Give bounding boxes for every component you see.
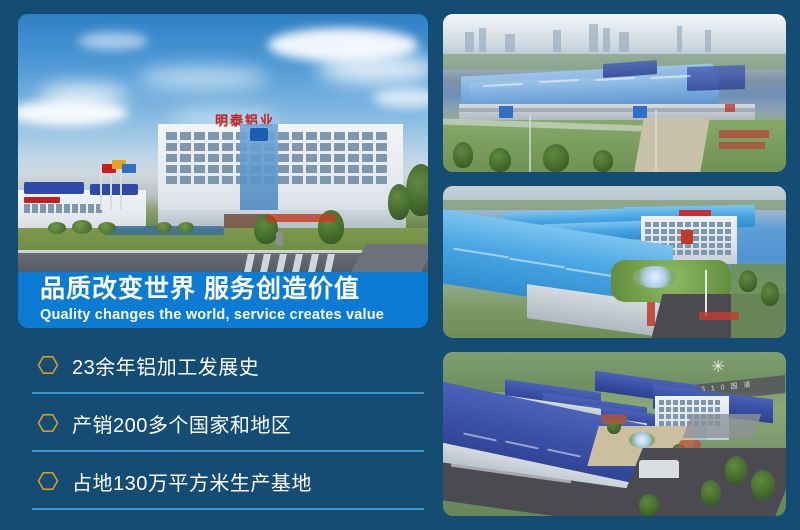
list-separator [32,508,424,510]
aerial-factory-wide-card[interactable] [443,14,786,172]
feature-label: 占地130万平方米生产基地 [72,467,312,496]
page-root: 明泰铝业 [0,0,800,530]
caption-english: Quality changes the world, service creat… [40,306,428,324]
feature-label: 23余年铝加工发展史 [72,351,259,380]
aerial-factory-campus-card[interactable] [443,186,786,338]
caption-chinese: 品质改变世界 服务创造价值 [40,276,428,302]
list-item[interactable]: 23余年铝加工发展史 [18,336,428,394]
industrial-park-rendering-card[interactable]: ✳ 3 1 0 国 道 [443,352,786,516]
main-photo-image: 明泰铝业 [18,14,428,272]
list-item[interactable]: 产销200多个国家和地区 [18,394,428,452]
aerial-factory-wide-image [443,14,786,172]
list-item[interactable]: 占地130万平方米生产基地 [18,452,428,510]
hexagon-bullet-icon [36,353,60,377]
aerial-factory-campus-image [443,186,786,338]
sunburst-icon: ✳ [711,358,725,375]
main-photo-card[interactable]: 明泰铝业 [18,14,428,328]
hexagon-bullet-icon [36,469,60,493]
photo-caption-banner: 品质改变世界 服务创造价值 Quality changes the world,… [18,272,428,328]
feature-label: 产销200多个国家和地区 [72,409,291,438]
industrial-park-rendering-image: ✳ 3 1 0 国 道 [443,352,786,516]
feature-list: 23余年铝加工发展史 产销200多个国家和地区 占地130万平方米生产基地 [18,336,428,510]
hexagon-bullet-icon [36,411,60,435]
